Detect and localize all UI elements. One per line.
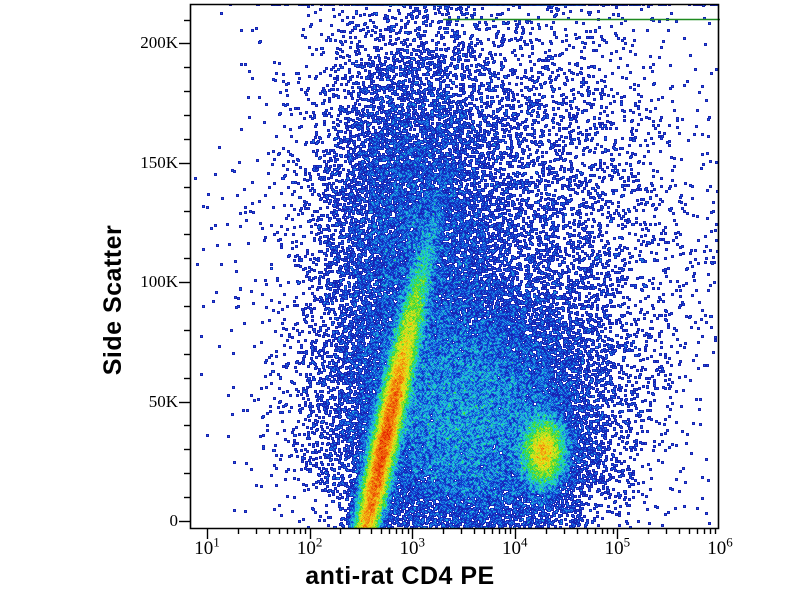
x-axis-title: anti-rat CD4 PE <box>0 562 800 591</box>
y-tick-label: 0 <box>118 511 178 531</box>
x-tick-label: 102 <box>280 538 340 560</box>
x-tick-label: 106 <box>690 538 750 560</box>
flow-cytometry-figure: Side Scatter anti-rat CD4 PE 050K100K150… <box>0 0 800 600</box>
x-tick-label: 101 <box>177 538 237 560</box>
x-tick-label: 103 <box>382 538 442 560</box>
x-tick-label: 105 <box>587 538 647 560</box>
y-tick-label: 100K <box>118 272 178 292</box>
y-axis-title: Side Scatter <box>96 0 130 600</box>
y-tick-label: 200K <box>118 33 178 53</box>
x-tick-label: 104 <box>485 538 545 560</box>
y-tick-label: 50K <box>118 392 178 412</box>
y-tick-label: 150K <box>118 153 178 173</box>
